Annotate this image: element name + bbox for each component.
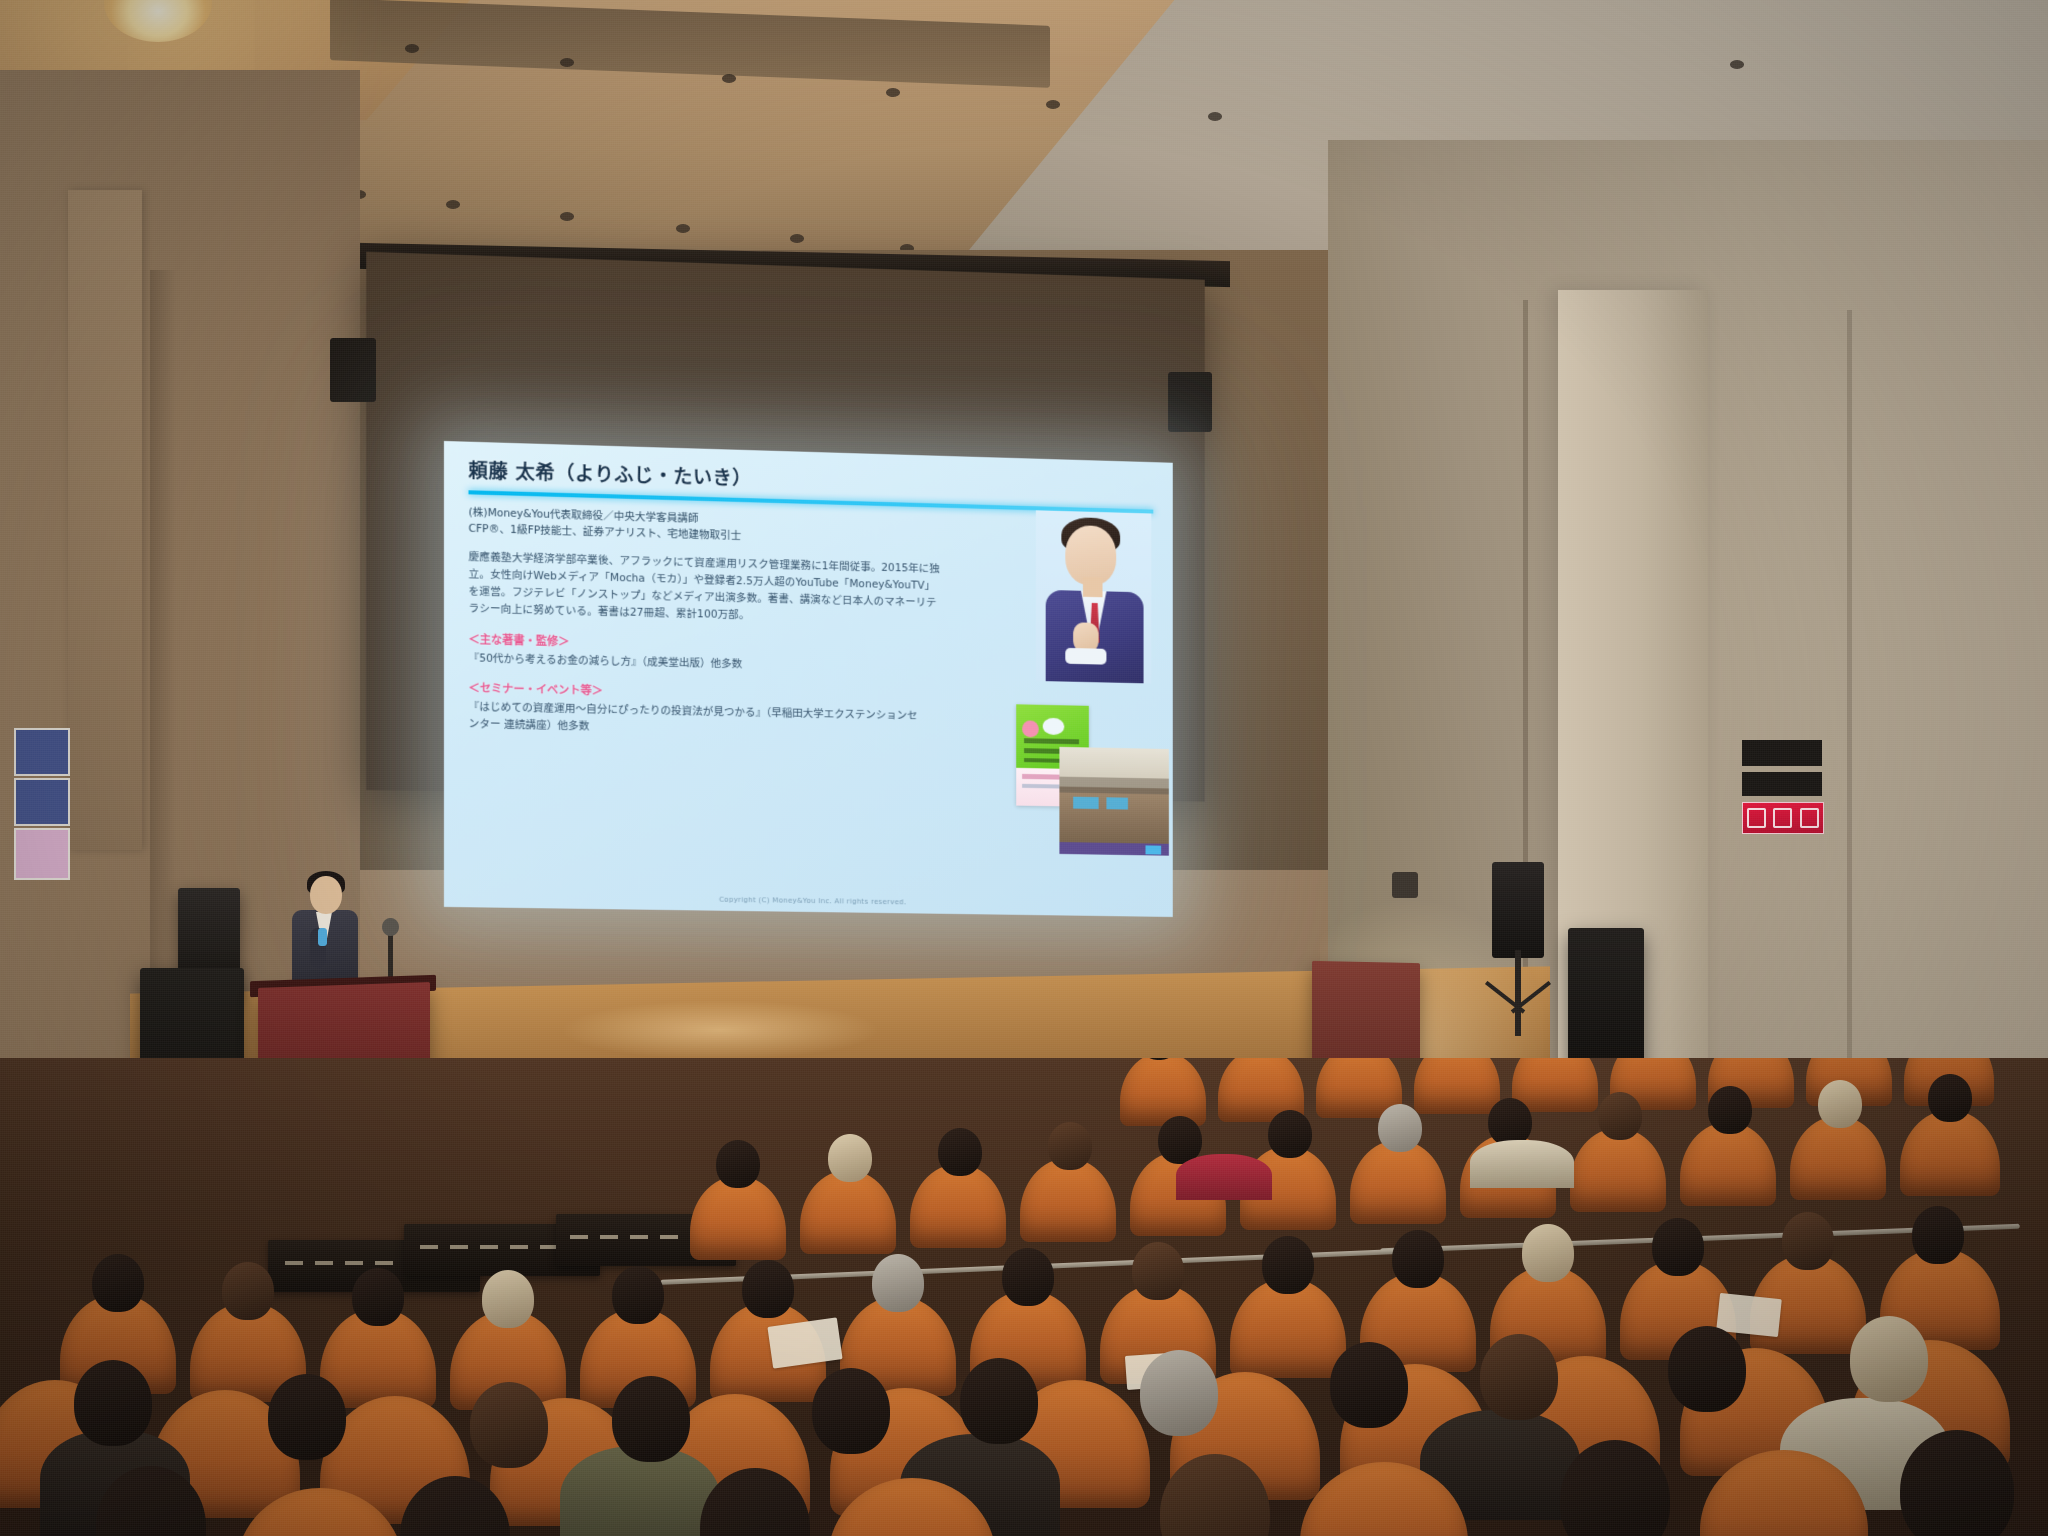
sign-panel-pink xyxy=(14,828,70,880)
tripod-pole xyxy=(1515,950,1521,1036)
downlight-icon xyxy=(790,234,804,243)
attendee-head xyxy=(1652,1218,1704,1276)
attendee-head xyxy=(1598,1092,1642,1140)
sign-panel-dark xyxy=(1742,772,1822,796)
presenter-figure xyxy=(288,876,360,994)
attendee-head xyxy=(938,1128,982,1176)
auditorium-seat xyxy=(1414,1058,1500,1114)
auditorium-seat xyxy=(1120,1058,1206,1126)
section-body-seminars: 『はじめての資産運用〜自分にぴったりの投資法が見つかる』（早稲田大学エクステンシ… xyxy=(469,699,927,742)
attendee-shoulders xyxy=(1470,1140,1574,1188)
downlight-icon xyxy=(405,44,419,53)
screen-mount-right xyxy=(1168,372,1212,432)
attendee-head xyxy=(352,1268,404,1326)
left-wall-column xyxy=(150,270,176,970)
attendee-head xyxy=(1378,1104,1422,1152)
auditorium-photo: 頼藤 太希（よりふじ・たいき） (株)Money&You代表取締役／中央大学客員… xyxy=(0,0,2048,1536)
attendee-head xyxy=(1818,1080,1862,1128)
downlight-icon xyxy=(1208,112,1222,121)
attendee-head xyxy=(1002,1248,1054,1306)
attendee-head xyxy=(92,1254,144,1312)
downlight-icon xyxy=(560,212,574,221)
downlight-icon xyxy=(886,88,900,97)
emergency-exit-sign-icon xyxy=(1742,802,1824,834)
auditorium-seat xyxy=(1900,1110,2000,1196)
attendee-head xyxy=(482,1270,534,1328)
attendee-head xyxy=(1392,1230,1444,1288)
attendee-head xyxy=(1048,1122,1092,1170)
microphone-icon xyxy=(318,928,327,946)
sign-panel-blue xyxy=(14,778,70,826)
wall-fixture xyxy=(1392,872,1418,898)
handout-paper xyxy=(767,1317,842,1368)
attendee-head xyxy=(1668,1326,1746,1412)
sign-panel-dark xyxy=(1742,740,1822,766)
attendee-head xyxy=(1488,1098,1532,1146)
attendee-head xyxy=(1928,1074,1972,1122)
auditorium-seat xyxy=(690,1176,786,1260)
attendee-head xyxy=(828,1134,872,1182)
ceiling-vent-band xyxy=(330,0,1050,88)
screen-mount-left xyxy=(330,338,376,402)
attendee-head xyxy=(470,1382,548,1468)
attendee-head xyxy=(742,1260,794,1318)
projected-slide: 頼藤 太希（よりふじ・たいき） (株)Money&You代表取締役／中央大学客員… xyxy=(444,441,1173,917)
attendee-head xyxy=(1708,1086,1752,1134)
seminar-photo-image xyxy=(1059,747,1168,856)
slide-copyright: Copyright (C) Money&You Inc. All rights … xyxy=(444,892,1173,910)
stage-light-pool xyxy=(560,1000,880,1060)
attendee-head xyxy=(1782,1212,1834,1270)
downlight-icon xyxy=(1730,60,1744,69)
auditorium-seat xyxy=(910,1164,1006,1248)
auditorium-seat xyxy=(1570,1128,1666,1212)
right-wall-signage xyxy=(1742,740,1822,850)
sign-panel-blue xyxy=(14,728,70,776)
auditorium-seat xyxy=(1020,1158,1116,1242)
speaker-portrait-image xyxy=(1036,510,1151,683)
left-wall-panel xyxy=(68,190,142,850)
downlight-icon xyxy=(560,58,574,67)
attendee-head xyxy=(1480,1334,1558,1420)
attendee-head xyxy=(1262,1236,1314,1294)
attendee-head xyxy=(1330,1342,1408,1428)
auditorium-seat xyxy=(1790,1116,1886,1200)
attendee-head xyxy=(872,1254,924,1312)
attendee-head xyxy=(1268,1110,1312,1158)
attendee-head xyxy=(612,1376,690,1462)
downlight-icon xyxy=(446,200,460,209)
left-wall-signage xyxy=(14,728,66,876)
biography-paragraph: 慶應義塾大学経済学部卒業後、アフラックにて資産運用リスク管理業務に1年間従事。2… xyxy=(469,549,942,629)
attendee-shoulders xyxy=(1176,1154,1272,1200)
attendee-head xyxy=(960,1358,1038,1444)
attendee-head xyxy=(812,1368,890,1454)
auditorium-seat xyxy=(800,1170,896,1254)
attendee-head xyxy=(612,1266,664,1324)
auditorium-seat xyxy=(1680,1122,1776,1206)
attendee-head xyxy=(1140,1350,1218,1436)
audience-seating xyxy=(0,1058,2048,1536)
downlight-icon xyxy=(722,74,736,83)
attendee-head xyxy=(716,1140,760,1188)
attendee-head xyxy=(1850,1316,1928,1402)
attendee-head xyxy=(222,1262,274,1320)
downlight-icon xyxy=(1046,100,1060,109)
attendee-head xyxy=(268,1374,346,1460)
attendee-head xyxy=(1522,1224,1574,1282)
attendee-head xyxy=(74,1360,152,1446)
tripod-speaker-box xyxy=(1492,862,1544,958)
mic-head-icon xyxy=(382,918,399,936)
attendee-head xyxy=(1132,1242,1184,1300)
attendee-head xyxy=(1912,1206,1964,1264)
room-background: 頼藤 太希（よりふじ・たいき） (株)Money&You代表取締役／中央大学客員… xyxy=(0,0,2048,1536)
auditorium-seat xyxy=(1350,1140,1446,1224)
downlight-icon xyxy=(676,224,690,233)
